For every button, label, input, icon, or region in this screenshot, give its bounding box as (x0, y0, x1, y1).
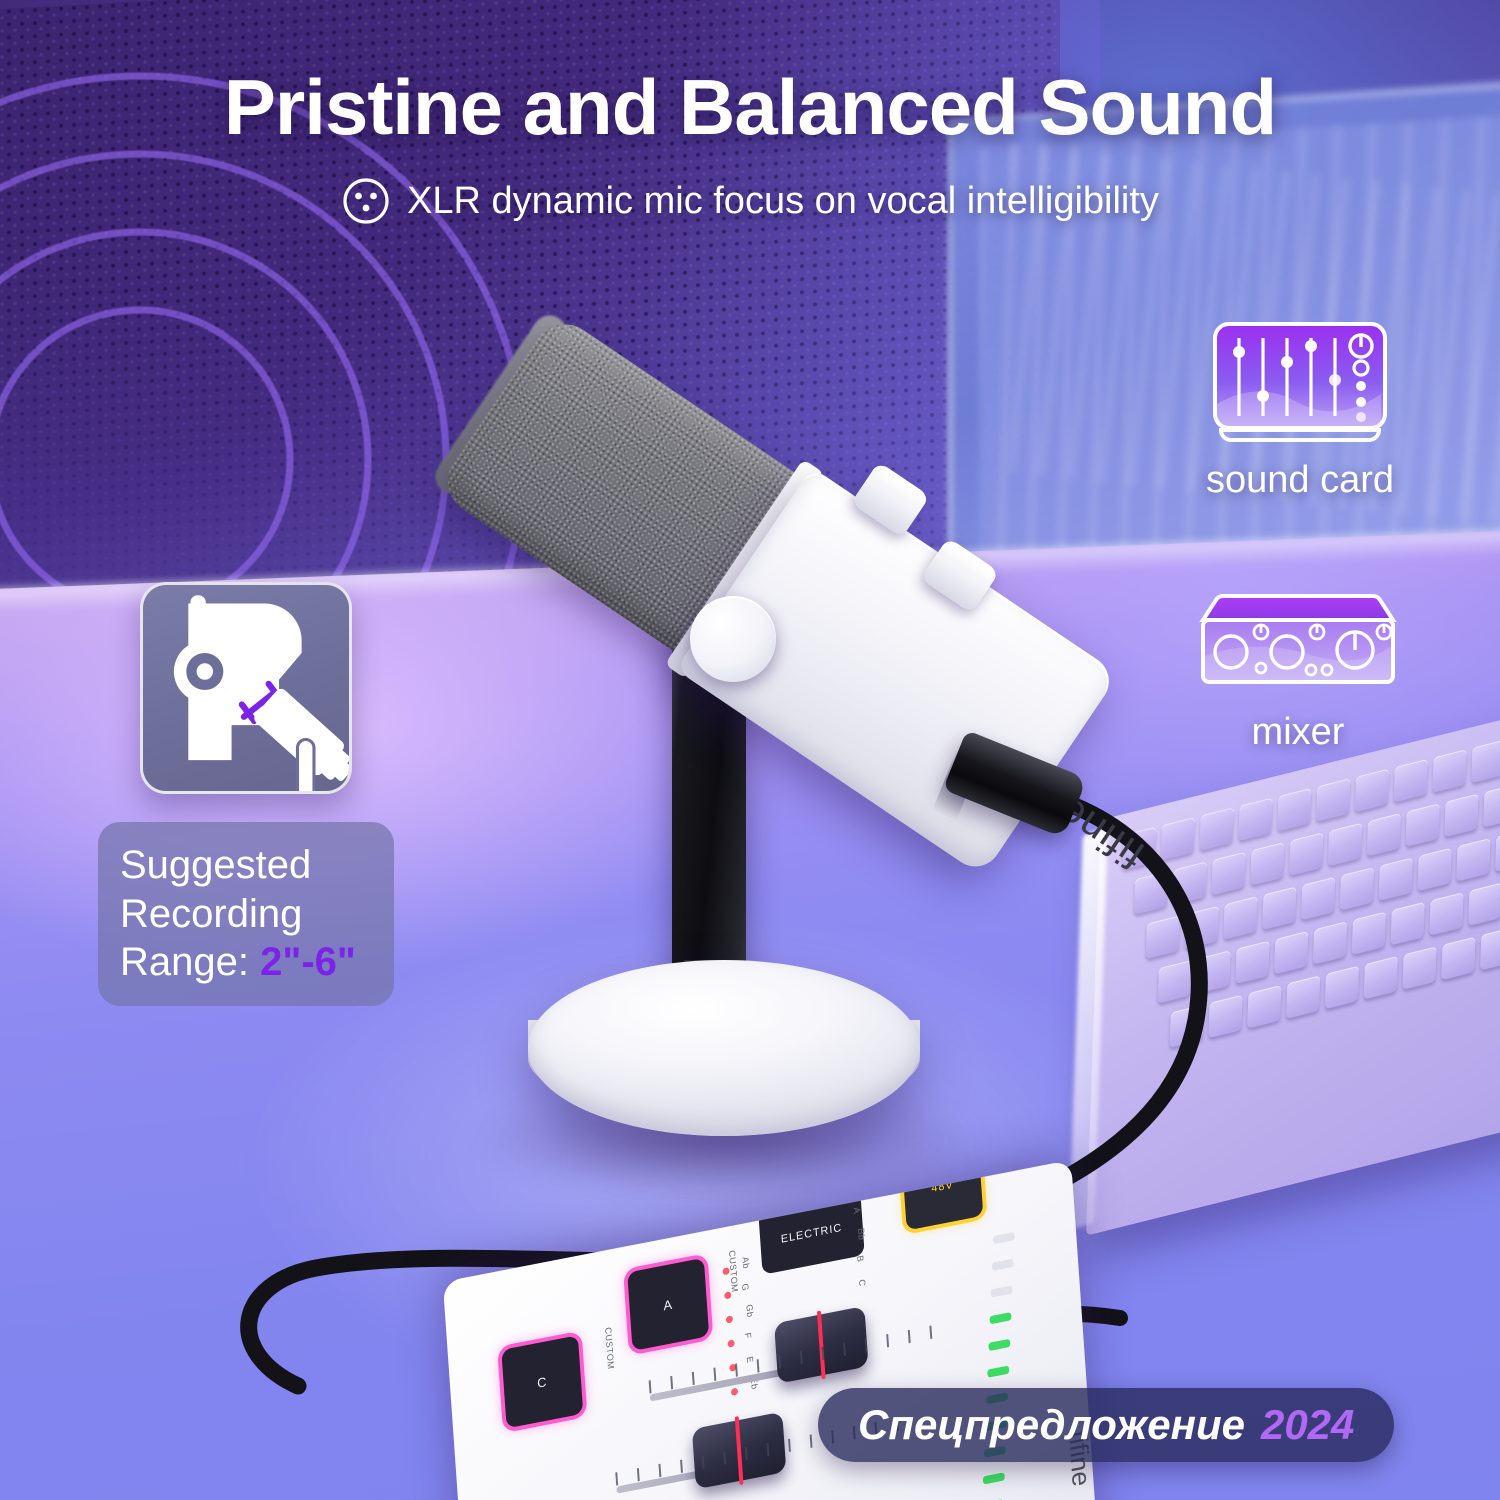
custom-a-label: A (663, 1296, 674, 1313)
led-segment (991, 1285, 1013, 1297)
note-label: Ab (741, 1256, 752, 1270)
range-value: 2"-6" (260, 940, 356, 984)
note-label: G (740, 1283, 750, 1292)
fader-handle-1[interactable] (774, 1306, 869, 1384)
fader-tick (692, 1372, 695, 1385)
custom-c-pad[interactable]: C (501, 1335, 583, 1428)
page-subtitle: XLR dynamic mic focus on vocal intelligi… (0, 176, 1500, 226)
chord-label: B (855, 1255, 865, 1263)
fader-tick (649, 1380, 652, 1393)
note-led (727, 1339, 734, 1347)
page-title: Pristine and Balanced Sound (0, 62, 1500, 153)
chord-label: Bb (856, 1227, 867, 1241)
suggested-range-card: Suggested Recording Range: 2"-6" (98, 822, 394, 1006)
range-line-3: Range: 2"-6" (120, 940, 372, 985)
note-label: F (743, 1332, 753, 1340)
fader-tick (929, 1326, 932, 1339)
sound-card-callout: sound card (1160, 318, 1440, 502)
led-segment (987, 1366, 1009, 1378)
xlr-connector-icon (341, 176, 391, 226)
fader-tick (788, 1439, 791, 1452)
led-segment (983, 1472, 1005, 1484)
sound-card-label: sound card (1160, 459, 1440, 502)
range-line-1: Suggested (120, 843, 372, 888)
custom-a-pad[interactable]: A (627, 1258, 709, 1351)
fader-tick (713, 1368, 716, 1381)
fader-tick (908, 1330, 911, 1343)
fader-tick (670, 1376, 673, 1389)
fader-tick (637, 1468, 640, 1481)
mic-pivot-screw[interactable] (690, 596, 776, 682)
led-segment (989, 1312, 1011, 1324)
mixer-label: mixer (1158, 711, 1438, 754)
product-marketing-image: fifine C CUSTOM A CUSTOM ELECTRIC 48V MU… (0, 0, 1500, 1500)
note-led (731, 1388, 738, 1396)
note-label: Gb (744, 1303, 755, 1318)
custom-c-label: C (537, 1373, 548, 1390)
fader-tick (735, 1363, 738, 1376)
note-led (724, 1291, 731, 1299)
mixer-icon (1195, 588, 1401, 700)
fader-tick (615, 1472, 618, 1485)
chord-label: C (857, 1278, 867, 1287)
sound-card-icon (1209, 318, 1391, 448)
mixer-callout: mixer (1158, 588, 1438, 754)
note-led (726, 1315, 733, 1323)
electric-label: ELECTRIC (780, 1222, 842, 1246)
promo-year: 2024 (1261, 1401, 1354, 1449)
head-mic-distance-icon (140, 582, 352, 794)
led-segment (992, 1259, 1014, 1271)
led-segment (988, 1339, 1010, 1351)
range-label: Range: (120, 940, 249, 984)
note-label: E (745, 1356, 755, 1364)
promo-badge: Спецпредложение 2024 (818, 1388, 1394, 1462)
fader-tick (658, 1464, 661, 1477)
fader-handle-2[interactable] (692, 1412, 787, 1490)
range-line-2: Recording (120, 892, 372, 937)
promo-text: Спецпредложение (858, 1401, 1245, 1449)
led-segment (993, 1232, 1015, 1244)
fader-tick (810, 1434, 813, 1447)
subtitle-text: XLR dynamic mic focus on vocal intelligi… (407, 180, 1159, 223)
fader-tick (757, 1359, 760, 1372)
fader-tick (886, 1334, 889, 1347)
custom-c-caption: CUSTOM (603, 1326, 616, 1370)
fader-tick (865, 1338, 868, 1351)
fader-tick (680, 1460, 683, 1473)
